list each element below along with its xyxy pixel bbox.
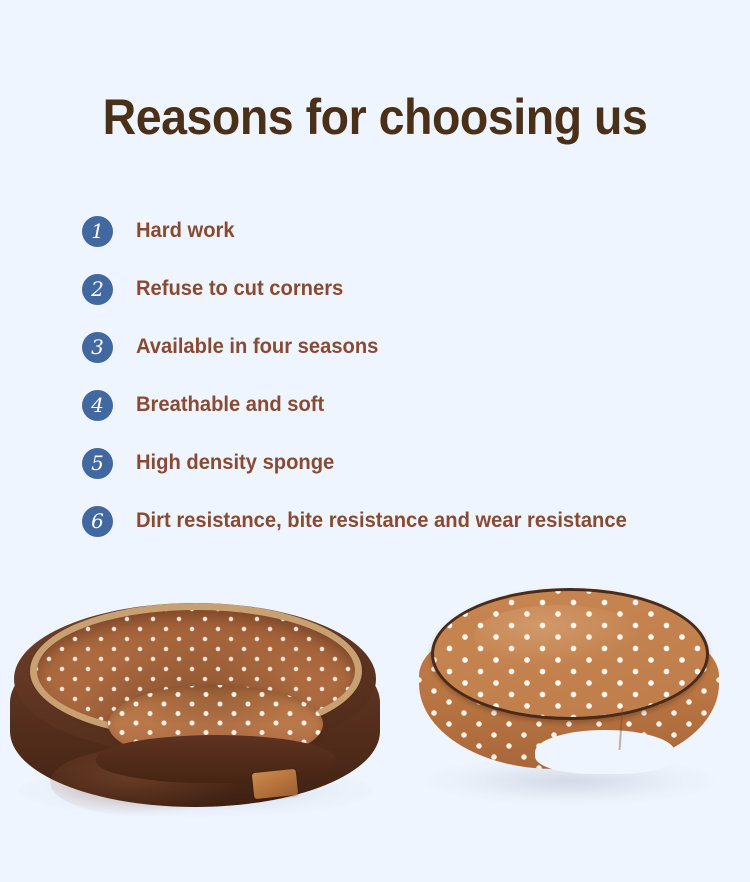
- reason-label: Hard work: [136, 219, 235, 243]
- reason-label: Breathable and soft: [136, 393, 324, 417]
- list-item: 1 Hard work: [82, 202, 722, 260]
- reason-number-badge: 3: [82, 332, 113, 363]
- bed-top-cushion-surface: [431, 588, 709, 720]
- reason-number-badge: 5: [82, 448, 113, 479]
- bed-front-entry-dip: [96, 735, 336, 783]
- reason-number-badge: 1: [82, 216, 113, 247]
- product-images: [0, 560, 750, 882]
- list-item: 4 Breathable and soft: [82, 376, 722, 434]
- reason-number-badge: 6: [82, 506, 113, 537]
- reason-label: Dirt resistance, bite resistance and wea…: [136, 509, 627, 533]
- reasons-list: 1 Hard work 2 Refuse to cut corners 3 Av…: [82, 202, 722, 550]
- reason-label: Refuse to cut corners: [136, 277, 343, 301]
- page-title: Reasons for choosing us: [26, 88, 724, 146]
- list-item: 3 Available in four seasons: [82, 318, 722, 376]
- fabric-sheen: [474, 605, 644, 667]
- pet-bed-front-view-image: [8, 585, 383, 830]
- reason-label: Available in four seasons: [136, 335, 378, 359]
- reason-label: High density sponge: [136, 451, 334, 475]
- list-item: 6 Dirt resistance, bite resistance and w…: [82, 492, 722, 550]
- bed-front-entry-dip: [535, 730, 675, 774]
- list-item: 2 Refuse to cut corners: [82, 260, 722, 318]
- list-item: 5 High density sponge: [82, 434, 722, 492]
- pet-bed-reversed-view-image: [415, 582, 725, 822]
- reason-number-badge: 2: [82, 274, 113, 305]
- reason-number-badge: 4: [82, 390, 113, 421]
- leather-brand-tag: [252, 769, 298, 799]
